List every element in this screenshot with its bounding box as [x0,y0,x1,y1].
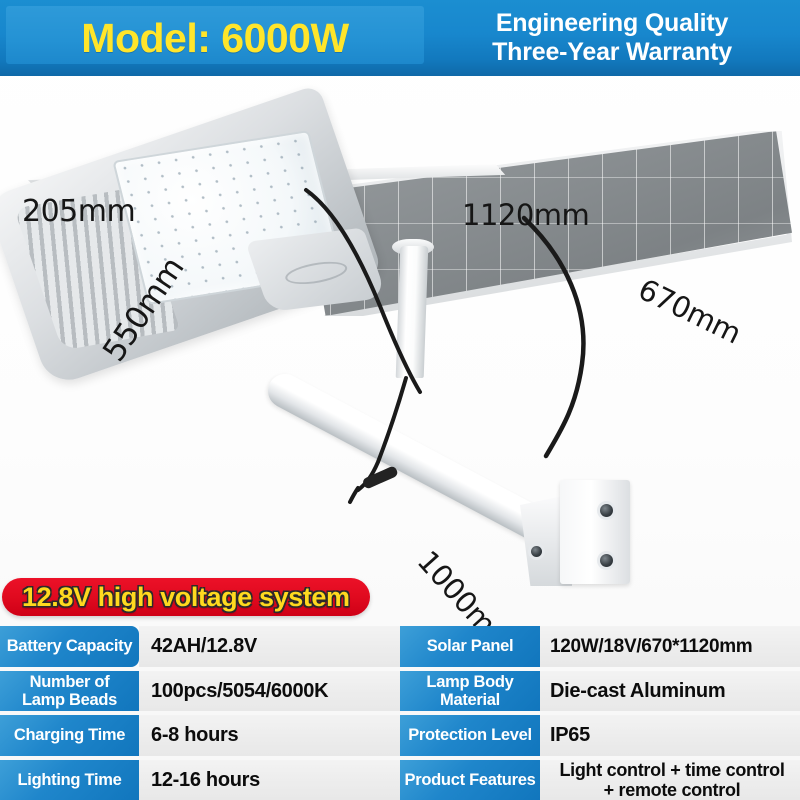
spec-label-solar-panel: Solar Panel [400,626,540,667]
spec-label-charging-time: Charging Time [0,715,139,756]
spec-label-battery-capacity: Battery Capacity [0,626,139,667]
dimension-label-lamp-width: 205mm [22,194,135,229]
table-row: Number ofLamp Beads 100pcs/5054/6000K La… [0,671,800,712]
voltage-system-badge: 12.8V high voltage system [2,578,370,616]
spec-value-battery-capacity: 42AH/12.8V [139,626,400,667]
banner-warranty-area: Engineering Quality Three-Year Warranty [430,0,800,76]
model-title: Model: 6000W [81,18,348,59]
spec-cell-lamp-beads: Number ofLamp Beads 100pcs/5054/6000K [0,671,400,712]
banner-line-three-year-warranty: Three-Year Warranty [492,38,732,68]
banner-line-engineering-quality: Engineering Quality [496,9,728,39]
cable-right [520,216,640,466]
product-infographic: Model: 6000W Engineering Quality Three-Y… [0,0,800,800]
voltage-system-badge-label: 12.8V high voltage system [22,584,350,611]
table-row: Battery Capacity 42AH/12.8V Solar Panel … [0,626,800,667]
spec-value-lamp-body-material: Die-cast Aluminum [540,671,800,712]
spec-cell-protection-level: Protection Level IP65 [400,715,800,756]
spec-cell-product-features: Product Features Light control + time co… [400,760,800,800]
table-row: Charging Time 6-8 hours Protection Level… [0,715,800,756]
table-row: Lighting Time 12-16 hours Product Featur… [0,760,800,800]
bracket-bolt-icon [531,546,542,557]
bracket-bolt-icon [600,554,613,567]
cable-connector [352,376,472,506]
spec-cell-lighting-time: Lighting Time 12-16 hours [0,760,400,800]
spec-label-protection-level: Protection Level [400,715,540,756]
spec-value-protection-level: IP65 [540,715,800,756]
spec-cell-solar-panel: Solar Panel 120W/18V/670*1120mm [400,626,800,667]
spec-value-charging-time: 6-8 hours [139,715,400,756]
product-illustration: 205mm 550mm 1120mm 670mm 1000mm [0,76,800,576]
bracket-bolt-icon [600,504,613,517]
spec-label-lamp-beads: Number ofLamp Beads [0,671,139,712]
header-banner: Model: 6000W Engineering Quality Three-Y… [0,0,800,76]
spec-value-lamp-beads: 100pcs/5054/6000K [139,671,400,712]
spec-value-product-features: Light control + time control+ remote con… [540,760,800,800]
wall-bracket-plate [560,480,630,584]
spec-value-solar-panel: 120W/18V/670*1120mm [540,626,800,667]
spec-label-product-features: Product Features [400,760,540,800]
spec-cell-lamp-body-material: Lamp BodyMaterial Die-cast Aluminum [400,671,800,712]
spec-label-lighting-time: Lighting Time [0,760,139,800]
spec-label-lamp-body-material: Lamp BodyMaterial [400,671,540,712]
dimension-label-panel-length: 1120mm [462,198,589,232]
spec-cell-battery-capacity: Battery Capacity 42AH/12.8V [0,626,400,667]
spec-cell-charging-time: Charging Time 6-8 hours [0,715,400,756]
specification-table: Battery Capacity 42AH/12.8V Solar Panel … [0,626,800,800]
spec-value-lighting-time: 12-16 hours [139,760,400,800]
banner-model-area: Model: 6000W [0,0,430,76]
